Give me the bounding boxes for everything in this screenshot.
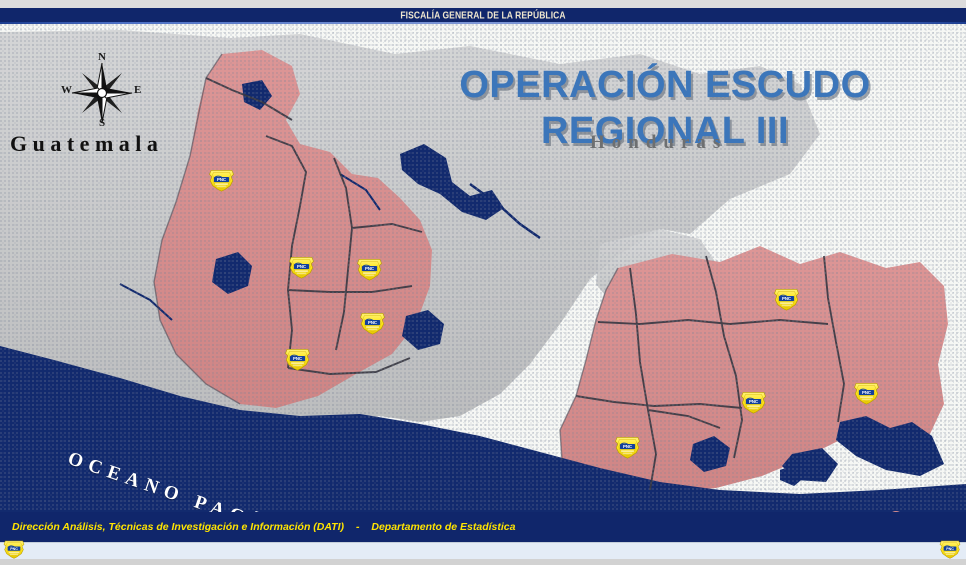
pnc-badge-1[interactable] xyxy=(207,168,236,192)
map-graphic xyxy=(0,24,966,512)
footer-department-text: Departamento de Estadística xyxy=(371,521,515,533)
footer-direction-text: Dirección Análisis, Técnicas de Investig… xyxy=(12,521,344,533)
footer-bar: Dirección Análisis, Técnicas de Investig… xyxy=(0,512,966,542)
pnc-badge-5[interactable] xyxy=(283,347,312,371)
screenshot-root: FISCALÍA GENERAL DE LA REPÚBLICA xyxy=(0,0,966,565)
compass-label-south: S xyxy=(99,117,105,129)
pnc-badge-7[interactable] xyxy=(739,390,768,414)
pnc-badge-8[interactable] xyxy=(852,381,881,405)
map-canvas[interactable]: OPERACIÓN ESCUDO REGIONAL III Guatemala … xyxy=(0,24,966,512)
pnc-badge-footer-left xyxy=(2,539,26,559)
footer-credits: Dirección Análisis, Técnicas de Investig… xyxy=(12,521,516,533)
pnc-badge-9[interactable] xyxy=(613,435,642,459)
footer-base-strip xyxy=(0,559,966,565)
compass-label-west: W xyxy=(61,84,72,96)
pnc-badge-footer-right xyxy=(938,539,962,559)
footer-strip xyxy=(0,542,966,560)
pnc-badge-2[interactable] xyxy=(287,255,316,279)
label-honduras: Honduras xyxy=(590,132,727,154)
label-guatemala: Guatemala xyxy=(10,131,163,157)
header-bar: FISCALÍA GENERAL DE LA REPÚBLICA xyxy=(0,8,966,22)
compass-rose-icon: N S E W xyxy=(62,53,142,133)
footer-separator: - xyxy=(356,521,360,533)
top-strip xyxy=(0,0,966,8)
compass-label-east: E xyxy=(134,84,141,96)
header-title: FISCALÍA GENERAL DE LA REPÚBLICA xyxy=(400,9,565,21)
pnc-badge-4[interactable] xyxy=(358,311,387,335)
pnc-badge-3[interactable] xyxy=(355,257,384,281)
pnc-badge-6[interactable] xyxy=(772,287,801,311)
compass-label-north: N xyxy=(98,51,106,63)
